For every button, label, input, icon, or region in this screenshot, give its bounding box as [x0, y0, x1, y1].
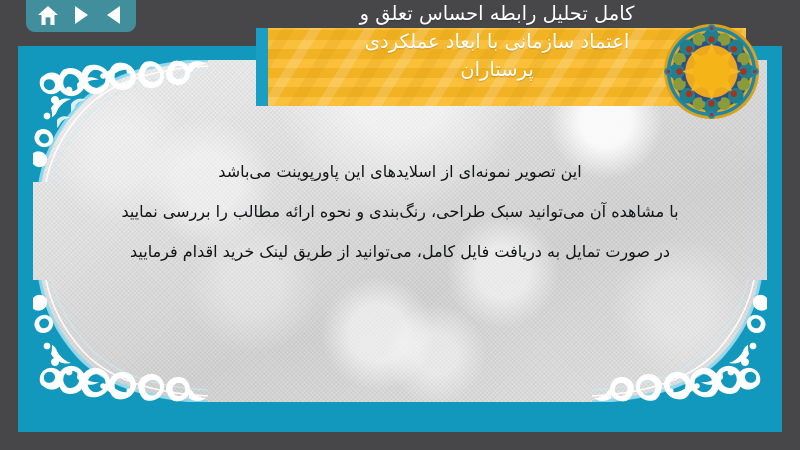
- slide-navigation-bar: [26, 0, 136, 32]
- corner-ornament-bottom-left-icon: [33, 280, 208, 402]
- slide-title: کامل تحلیل رابطه احساس تعلق و اعتماد ساز…: [262, 0, 732, 104]
- triangle-left-icon: [105, 5, 123, 25]
- previous-slide-button[interactable]: [101, 3, 127, 27]
- next-slide-button[interactable]: [68, 3, 94, 27]
- persian-medallion-ornament-icon: [663, 23, 760, 120]
- slide-viewer: این تصویر نمونه‌ای از اسلایدهای این پاور…: [0, 0, 800, 450]
- slide-body-text: این تصویر نمونه‌ای از اسلایدهای این پاور…: [63, 152, 737, 272]
- body-line-3: در صورت تمایل به دریافت فایل کامل، می‌تو…: [63, 232, 737, 272]
- body-line-1: این تصویر نمونه‌ای از اسلایدهای این پاور…: [63, 152, 737, 192]
- home-button[interactable]: [35, 3, 61, 27]
- body-line-2: با مشاهده آن می‌توانید سبک طراحی، رنگ‌بن…: [63, 192, 737, 232]
- home-icon: [37, 5, 59, 26]
- slide-content-area: این تصویر نمونه‌ای از اسلایدهای این پاور…: [33, 60, 767, 402]
- triangle-right-icon: [72, 5, 90, 25]
- corner-ornament-bottom-right-icon: [592, 280, 767, 402]
